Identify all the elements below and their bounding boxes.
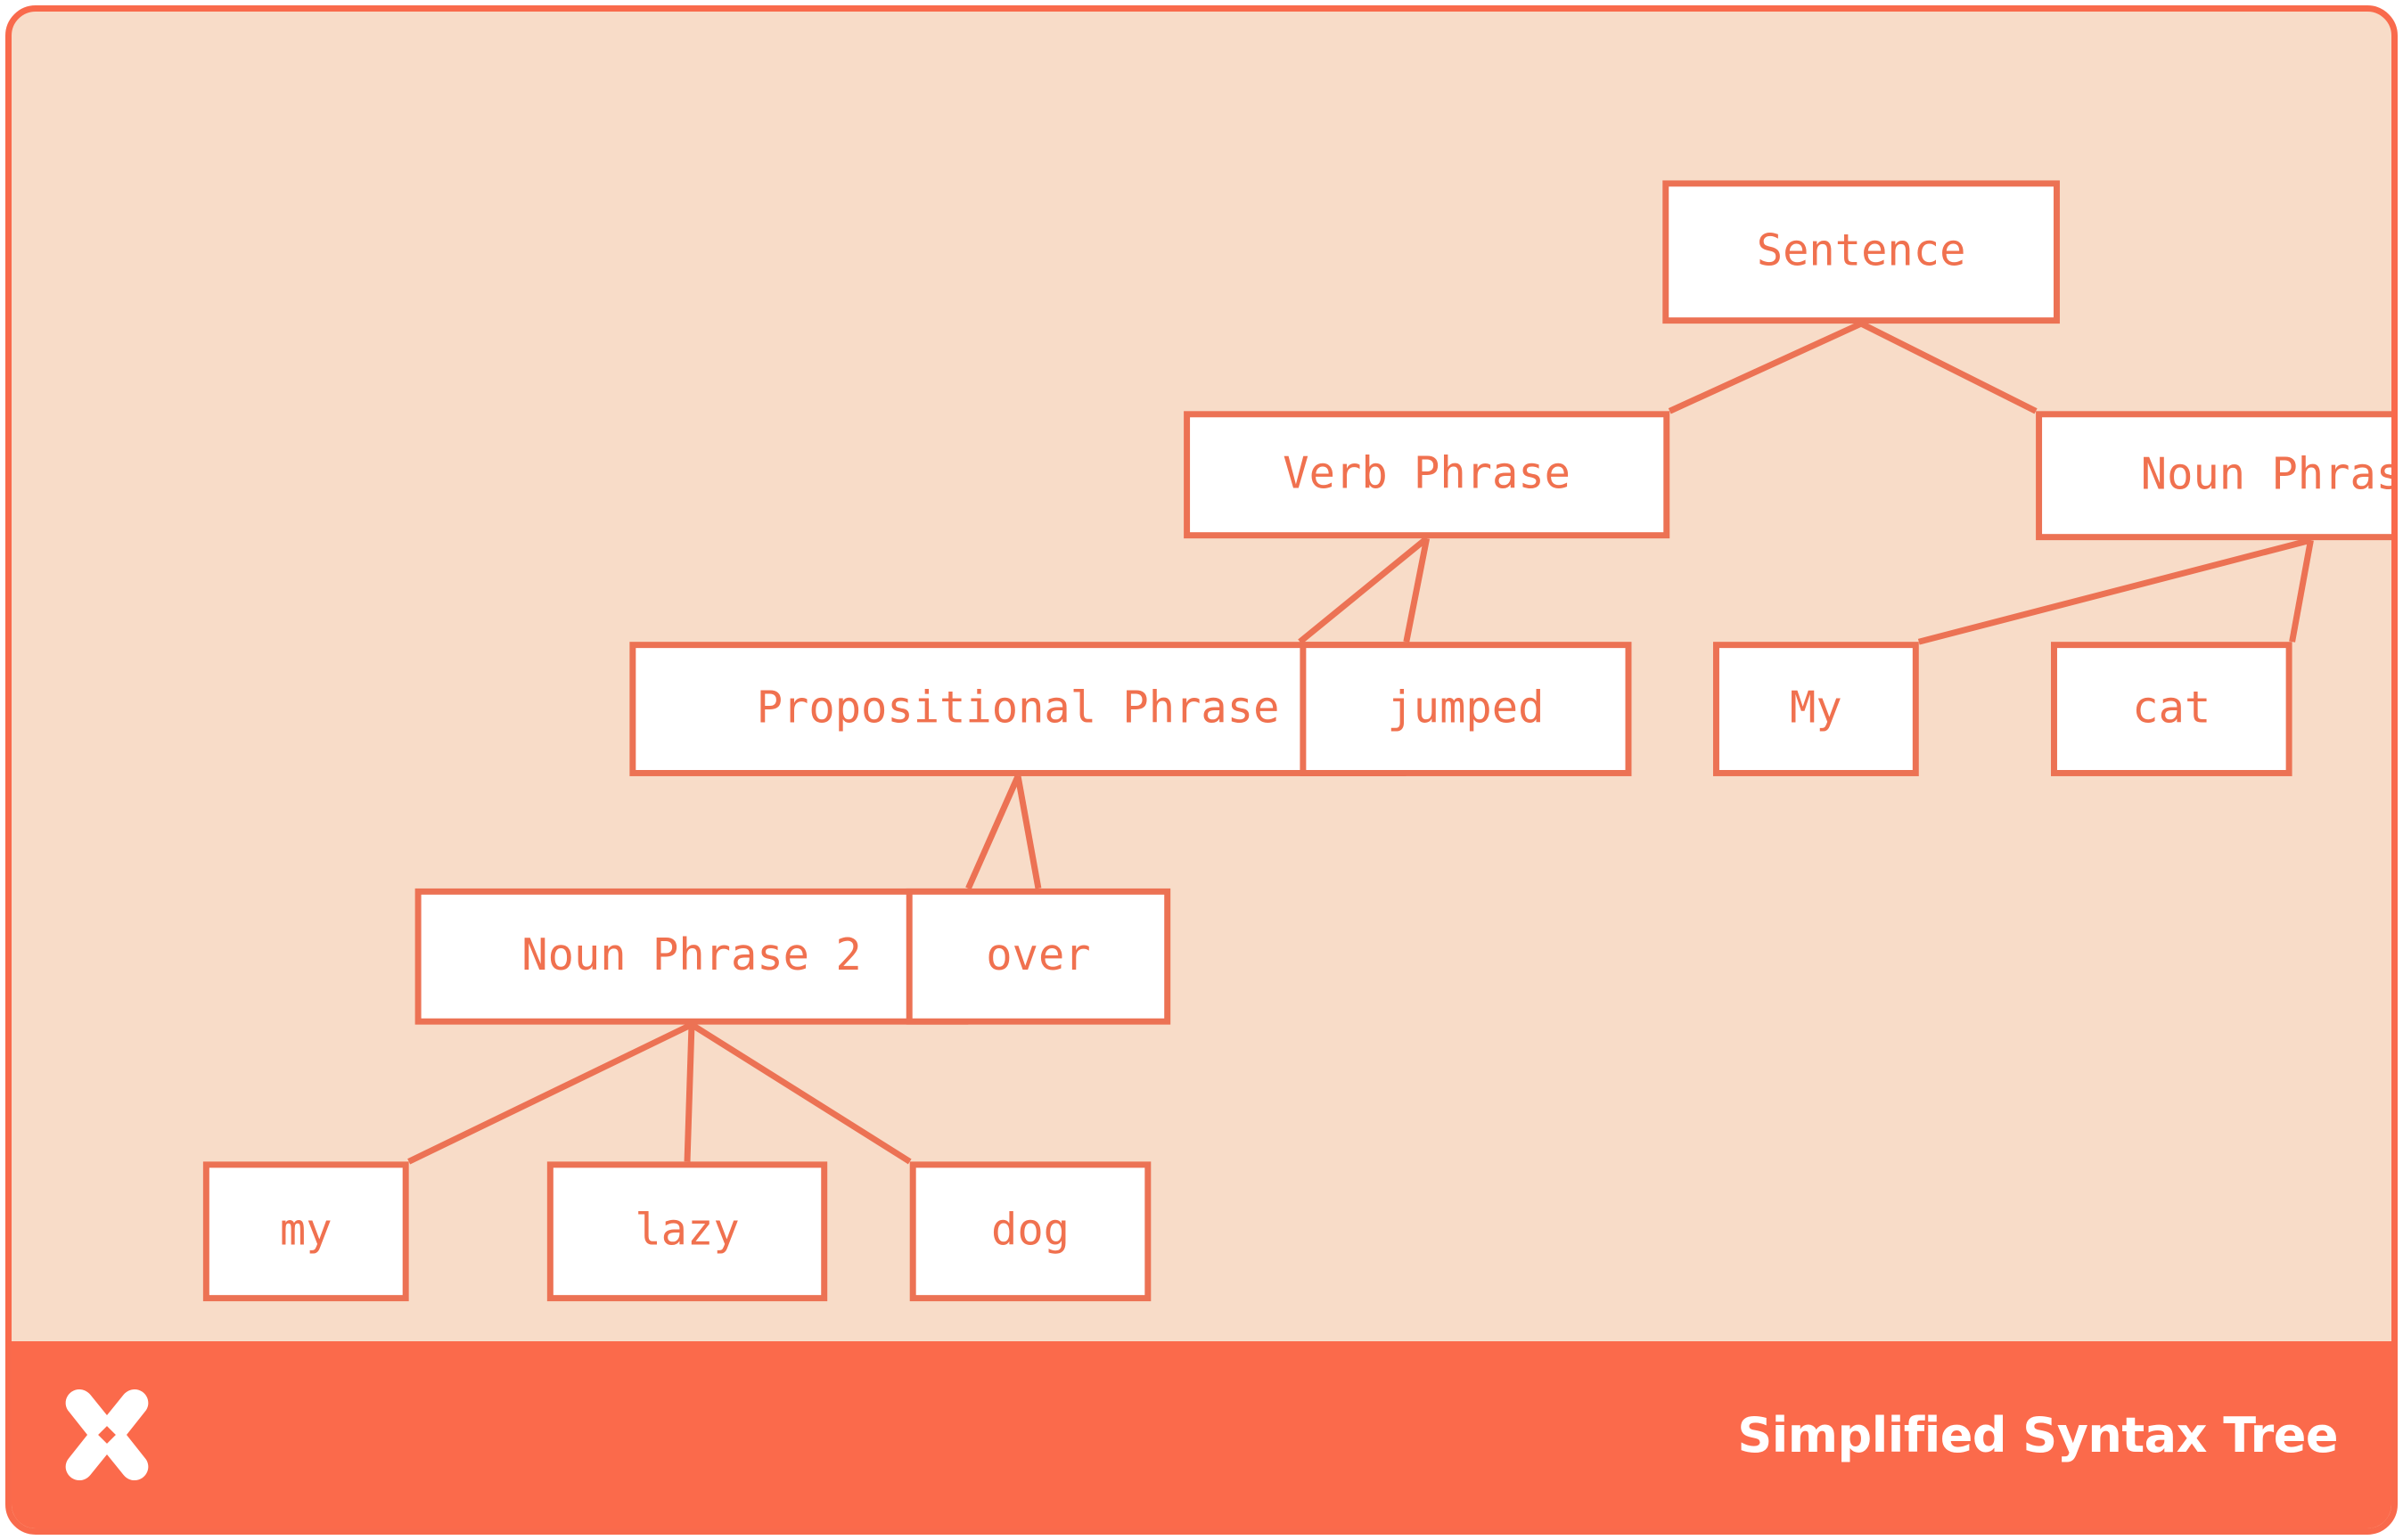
tree-node-jumped[interactable]: jumped bbox=[1303, 645, 1628, 774]
footer-title: Simplified Syntax Tree bbox=[1737, 1407, 2338, 1463]
tree-node-dog[interactable]: dog bbox=[913, 1165, 1148, 1298]
tree-edge-pp-to-np2 bbox=[968, 776, 1018, 889]
node-label-jumped: jumped bbox=[1387, 684, 1544, 733]
node-label-np1: Noun Phrase 1 bbox=[2141, 450, 2391, 500]
tree-node-lazy[interactable]: lazy bbox=[550, 1165, 824, 1298]
footer-bar: Simplified Syntax Tree bbox=[12, 1341, 2391, 1528]
node-label-my_low: my bbox=[280, 1206, 332, 1256]
tree-node-my_low[interactable]: my bbox=[206, 1165, 406, 1298]
tree-edge-sentence-to-np1 bbox=[1861, 324, 2036, 411]
node-label-dog: dog bbox=[991, 1206, 1070, 1256]
tree-node-my_cap[interactable]: My bbox=[1716, 645, 1915, 774]
tree-edge-np1-to-cat bbox=[2292, 540, 2311, 642]
diagram-card: SentenceVerb PhraseNoun Phrase 1Proposit… bbox=[5, 5, 2398, 1535]
screenshot-canvas: SentenceVerb PhraseNoun Phrase 1Proposit… bbox=[0, 0, 2403, 1540]
tree-edge-sentence-to-vp bbox=[1669, 324, 1861, 411]
node-label-my_cap: My bbox=[1790, 684, 1842, 733]
tree-node-np2[interactable]: Noun Phrase 2 bbox=[418, 891, 965, 1021]
node-label-pp: Propositional Phrase bbox=[757, 684, 1280, 733]
node-label-over: over bbox=[986, 930, 1090, 980]
tree-edge-np1-to-my_cap bbox=[1919, 540, 2311, 642]
tree-node-sentence[interactable]: Sentence bbox=[1666, 184, 2057, 321]
syntax-tree-diagram: SentenceVerb PhraseNoun Phrase 1Proposit… bbox=[12, 12, 2391, 1528]
tree-edge-np2-to-my_low bbox=[409, 1025, 692, 1162]
node-label-np2: Noun Phrase 2 bbox=[521, 930, 861, 980]
tree-edge-np2-to-lazy bbox=[687, 1025, 692, 1162]
node-label-lazy: lazy bbox=[635, 1206, 739, 1256]
tree-edge-np2-to-dog bbox=[692, 1025, 910, 1162]
tree-node-cat[interactable]: cat bbox=[2054, 645, 2289, 774]
tree-edge-pp-to-over bbox=[1018, 776, 1038, 889]
tree-node-vp[interactable]: Verb Phrase bbox=[1187, 414, 1667, 536]
node-label-vp: Verb Phrase bbox=[1283, 449, 1571, 499]
node-label-cat: cat bbox=[2132, 684, 2210, 733]
x-mark-logo-icon bbox=[58, 1386, 156, 1484]
tree-node-pp[interactable]: Propositional Phrase bbox=[633, 645, 1403, 774]
node-label-sentence: Sentence bbox=[1757, 226, 1966, 276]
tree-node-np1[interactable]: Noun Phrase 1 bbox=[2039, 414, 2391, 537]
node-layer: SentenceVerb PhraseNoun Phrase 1Proposit… bbox=[206, 184, 2391, 1298]
tree-node-over[interactable]: over bbox=[909, 891, 1167, 1021]
